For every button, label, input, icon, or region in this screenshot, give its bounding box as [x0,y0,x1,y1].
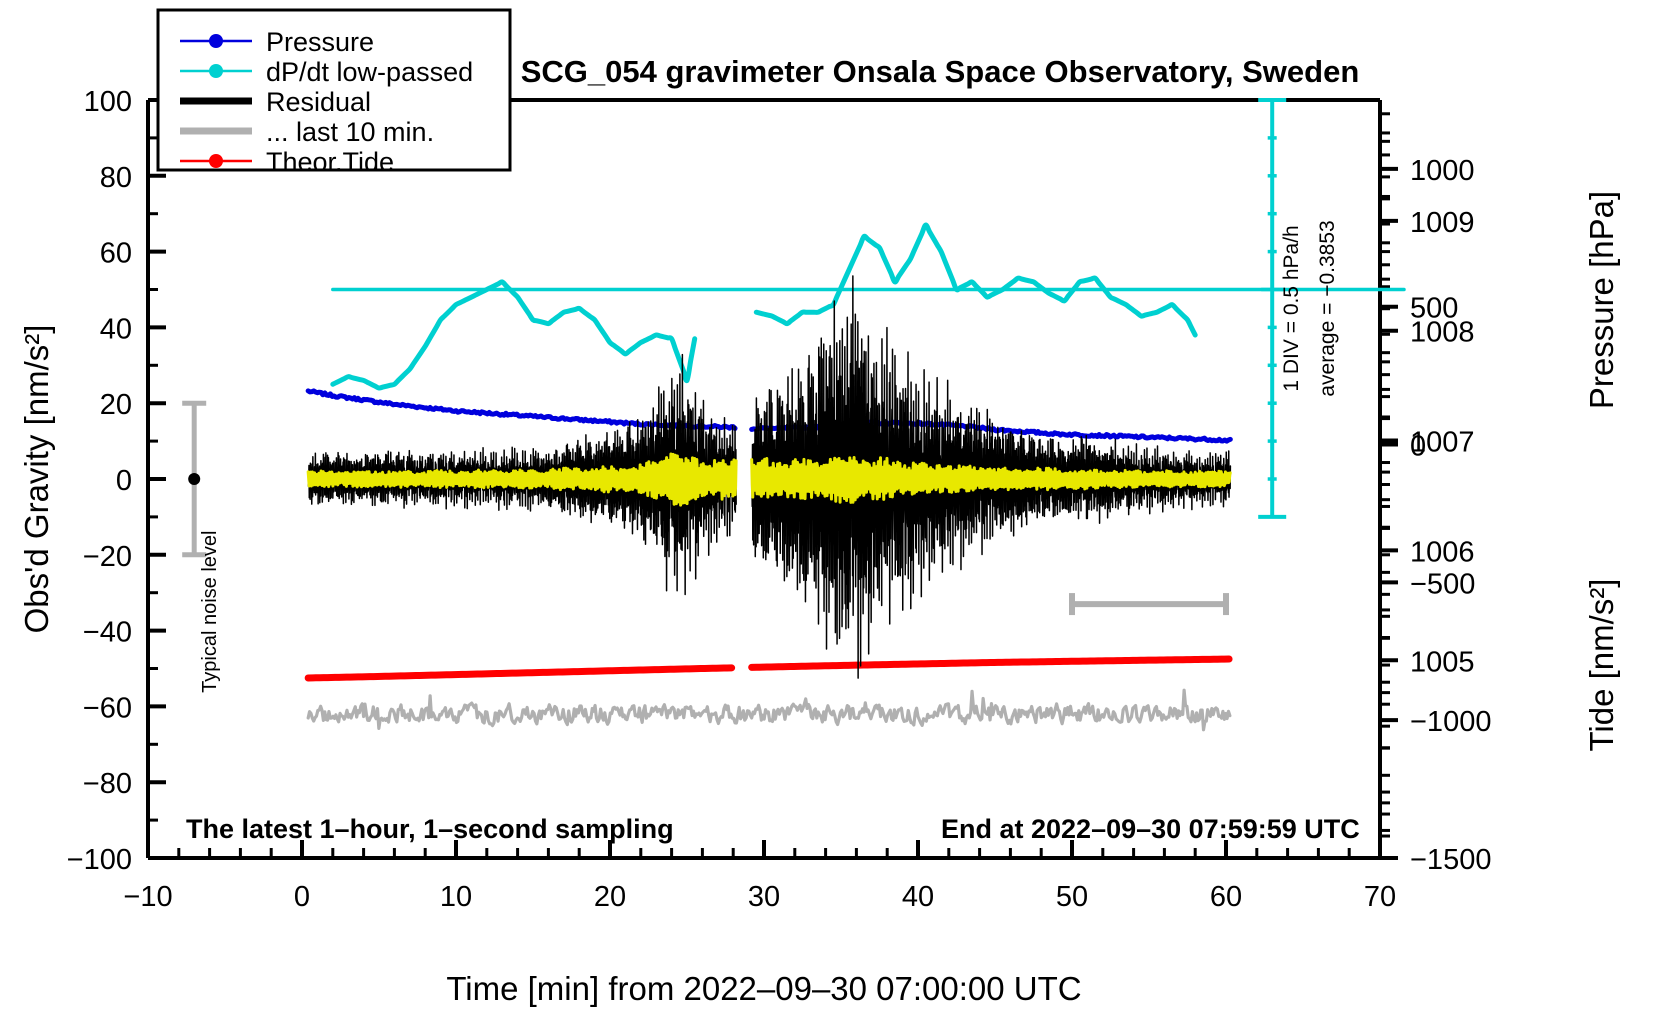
left-tick-label: −60 [83,692,132,724]
gravimeter-chart: −100−80−60−40−20020406080100 −1001020304… [0,0,1660,1020]
right-tide-tick-label: 500 [1410,293,1458,325]
right-tide-tick-label: −1500 [1410,844,1491,876]
left-tick-label: −100 [67,844,132,876]
right-tide-tick-label: 0 [1410,431,1426,463]
right-pressure-tick-label: 1006 [1410,536,1475,568]
legend-marker-dot [209,64,223,78]
left-tick-label: 80 [100,162,132,194]
left-tick-label: −40 [83,617,132,649]
scale-div-label: 1 DIV = 0.5 hPa/h [1280,225,1303,391]
legend: PressuredP/dt low-passedResidual... last… [158,10,510,177]
scale-average-label: average = −0.3853 [1316,220,1339,396]
bottom-tick-label: 30 [748,881,780,913]
legend-label: Theor.Tide [266,147,394,177]
legend-label: dP/dt low-passed [266,57,473,87]
right-pressure-tick-label: 1005 [1410,646,1475,678]
bottom-tick-label: 40 [902,881,934,913]
footer-left-text: The latest 1–hour, 1–second sampling [186,814,674,844]
legend-label: Residual [266,87,371,117]
legend-label: Pressure [266,27,374,57]
right-tide-axis-title: Tide [nm/s²] [1583,579,1620,752]
bottom-axis-title: Time [min] from 2022–09–30 07:00:00 UTC [446,970,1081,1007]
page-title: SCG_054 gravimeter Onsala Space Observat… [521,54,1360,89]
bottom-tick-label: 10 [440,881,472,913]
legend-marker-dot [209,34,223,48]
bottom-tick-label: 60 [1210,881,1242,913]
footer-right-text: End at 2022–09–30 07:59:59 UTC [941,814,1360,844]
left-tick-label: −20 [83,541,132,573]
left-tick-label: 100 [84,86,132,118]
right-pressure-axis-title: Pressure [hPa] [1583,191,1620,409]
right-tide-tick-label: 1000 [1410,155,1475,187]
left-tick-label: 0 [116,465,132,497]
bottom-tick-label: 50 [1056,881,1088,913]
bottom-tick-label: −10 [123,881,172,913]
typical-noise-level-label: Typical noise level [199,530,221,692]
legend-marker-dot [209,154,223,168]
left-tick-label: 40 [100,313,132,345]
left-tick-label: 20 [100,389,132,421]
right-tide-tick-label: −1000 [1410,706,1491,738]
left-tick-label: 60 [100,238,132,270]
bottom-tick-label: 20 [594,881,626,913]
left-tick-label: −80 [83,768,132,800]
left-axis-title: Obs'd Gravity [nm/s²] [18,325,55,634]
right-pressure-tick-label: 1009 [1410,207,1475,239]
right-tide-tick-label: −500 [1410,568,1475,600]
chart-canvas: −100−80−60−40−20020406080100 −1001020304… [0,0,1660,1020]
bottom-tick-label: 0 [294,881,310,913]
bottom-tick-label: 70 [1364,881,1396,913]
legend-label: ... last 10 min. [266,117,434,147]
